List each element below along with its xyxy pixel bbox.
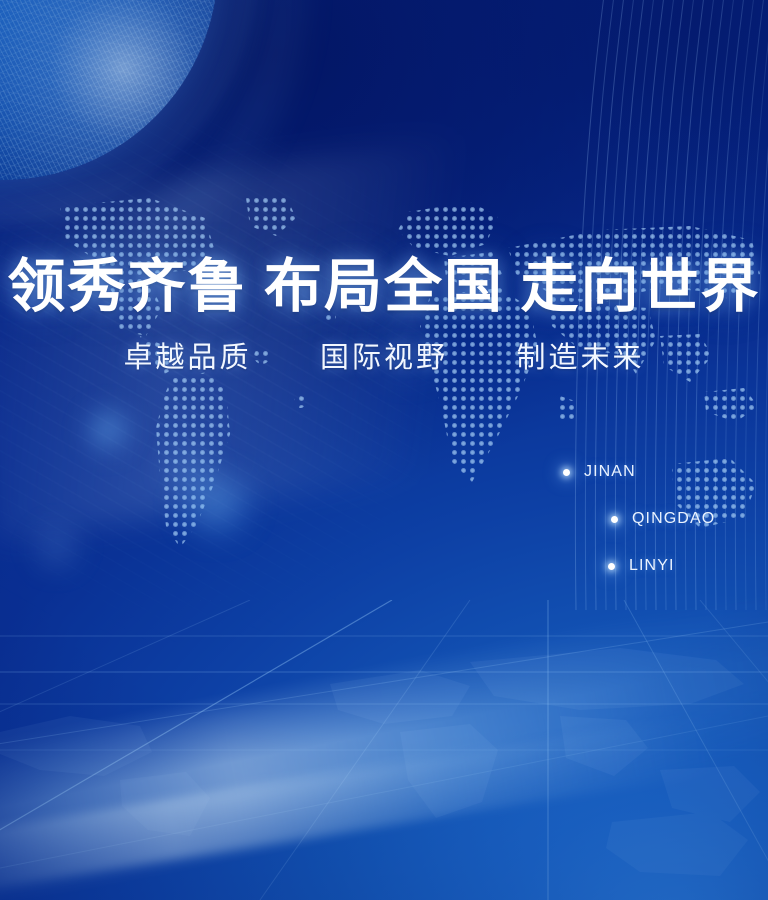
hero-subtitle-part-2: 国际视野 [320,342,448,374]
map-pin-dot-icon [563,469,570,476]
map-pin-dot-icon [611,516,618,523]
background-vignette [0,0,768,900]
banner-hero: 领秀齐鲁 布局全国 走向世界 卓越品质 国际视野 制造未来 JINAN QING… [0,0,768,900]
hero-copy: 领秀齐鲁 布局全国 走向世界 卓越品质 国际视野 制造未来 [0,252,768,378]
map-marker-linyi[interactable]: LINYI [608,557,675,575]
hero-subtitle: 卓越品质 国际视野 制造未来 [0,338,768,378]
map-marker-label: JINAN [584,463,636,481]
hero-subtitle-part-1: 卓越品质 [123,342,251,374]
map-marker-jinan[interactable]: JINAN [563,463,636,481]
map-marker-label: LINYI [629,557,675,575]
map-marker-qingdao[interactable]: QINGDAO [611,510,715,528]
page-title: 领秀齐鲁 布局全国 走向世界 [0,252,768,322]
map-pin-dot-icon [608,563,615,570]
hero-subtitle-part-3: 制造未来 [517,342,645,374]
map-marker-label: QINGDAO [632,510,715,528]
